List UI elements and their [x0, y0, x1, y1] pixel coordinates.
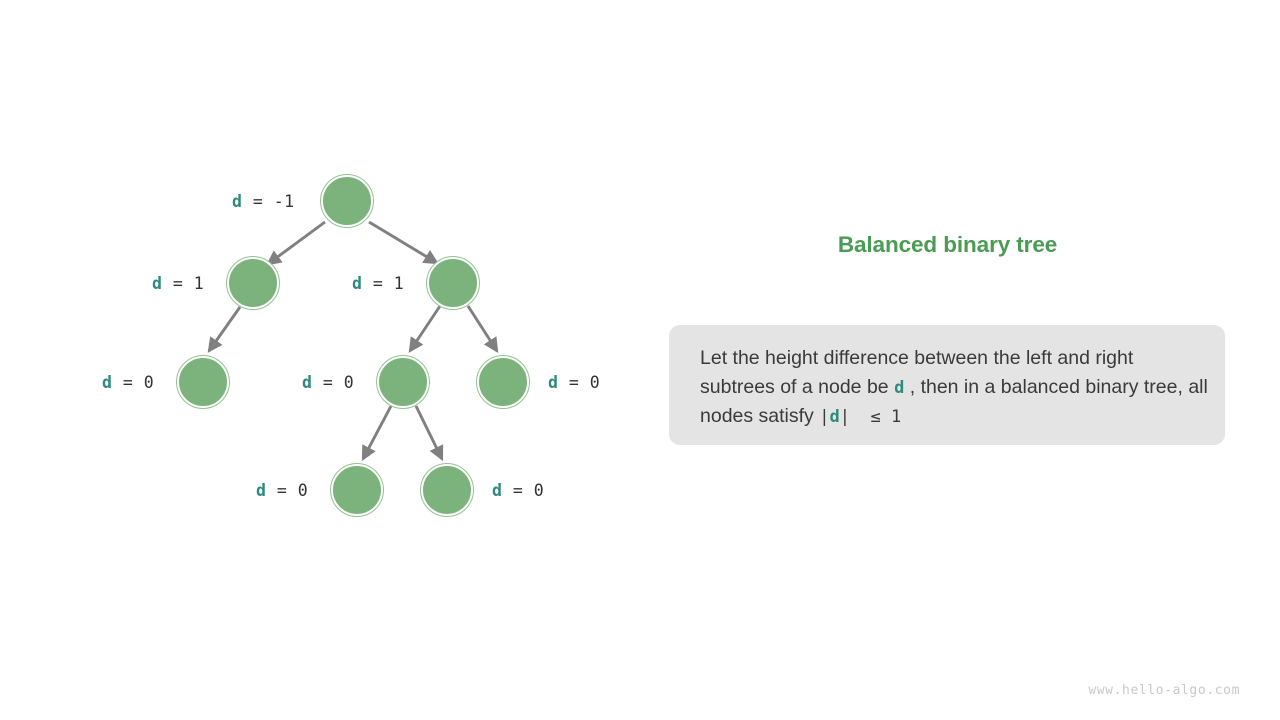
node-label-value: = 0	[266, 481, 308, 500]
tree-edge	[410, 306, 440, 351]
node-label-right: d = 1	[352, 274, 404, 293]
binary-tree-diagram: d = -1 d = 1 d = 1 d = 0 d = 0 d = 0 d =…	[0, 0, 660, 720]
relation-operator: ≤	[870, 407, 880, 427]
node-label-right-left: d = 0	[302, 373, 354, 392]
tree-node-left-left[interactable]	[177, 356, 229, 408]
d-symbol: d	[232, 192, 242, 211]
node-label-right-left-right: d = 0	[492, 481, 544, 500]
node-label-value: = 0	[502, 481, 544, 500]
d-symbol: d	[302, 373, 312, 392]
tree-node-root[interactable]	[321, 175, 373, 227]
node-label-value: = 1	[362, 274, 404, 293]
tree-edge	[416, 406, 442, 459]
tree-edge	[468, 306, 497, 351]
d-symbol: d	[256, 481, 266, 500]
d-symbol: d	[492, 481, 502, 500]
node-label-left: d = 1	[152, 274, 204, 293]
tree-edge-layer	[0, 0, 660, 720]
tree-edge	[209, 307, 240, 351]
node-label-value: = 0	[312, 373, 354, 392]
tree-edge	[268, 222, 325, 264]
node-label-right-right: d = 0	[548, 373, 600, 392]
bound-value: 1	[891, 407, 901, 427]
d-symbol: d	[152, 274, 162, 293]
info-panel: Balanced binary tree Let the height diff…	[660, 0, 1280, 720]
tree-edge	[363, 406, 391, 459]
watermark: www.hello-algo.com	[1088, 683, 1240, 698]
slide-canvas: d = -1 d = 1 d = 1 d = 0 d = 0 d = 0 d =…	[0, 0, 1280, 720]
description-text: Let the height difference between the le…	[700, 344, 1210, 432]
page-title: Balanced binary tree	[660, 232, 1235, 258]
d-symbol: d	[548, 373, 558, 392]
tree-edge	[369, 222, 437, 263]
d-symbol: d	[352, 274, 362, 293]
node-label-left-left: d = 0	[102, 373, 154, 392]
d-symbol: d	[102, 373, 112, 392]
abs-pipe-open: |	[819, 407, 829, 427]
node-label-value: = 0	[558, 373, 600, 392]
d-symbol: d	[829, 407, 839, 427]
tree-node-left[interactable]	[227, 257, 279, 309]
tree-node-right-left-right[interactable]	[421, 464, 473, 516]
tree-node-right-right[interactable]	[477, 356, 529, 408]
node-label-root: d = -1	[232, 192, 295, 211]
tree-node-right-left[interactable]	[377, 356, 429, 408]
tree-node-right-left-left[interactable]	[331, 464, 383, 516]
node-label-right-left-left: d = 0	[256, 481, 308, 500]
node-label-value: = 0	[112, 373, 154, 392]
description-box: Let the height difference between the le…	[669, 325, 1225, 445]
tree-node-right[interactable]	[427, 257, 479, 309]
node-label-value: = 1	[162, 274, 204, 293]
d-symbol: d	[894, 378, 904, 398]
abs-pipe-close: |	[840, 407, 850, 427]
node-label-value: = -1	[242, 192, 294, 211]
